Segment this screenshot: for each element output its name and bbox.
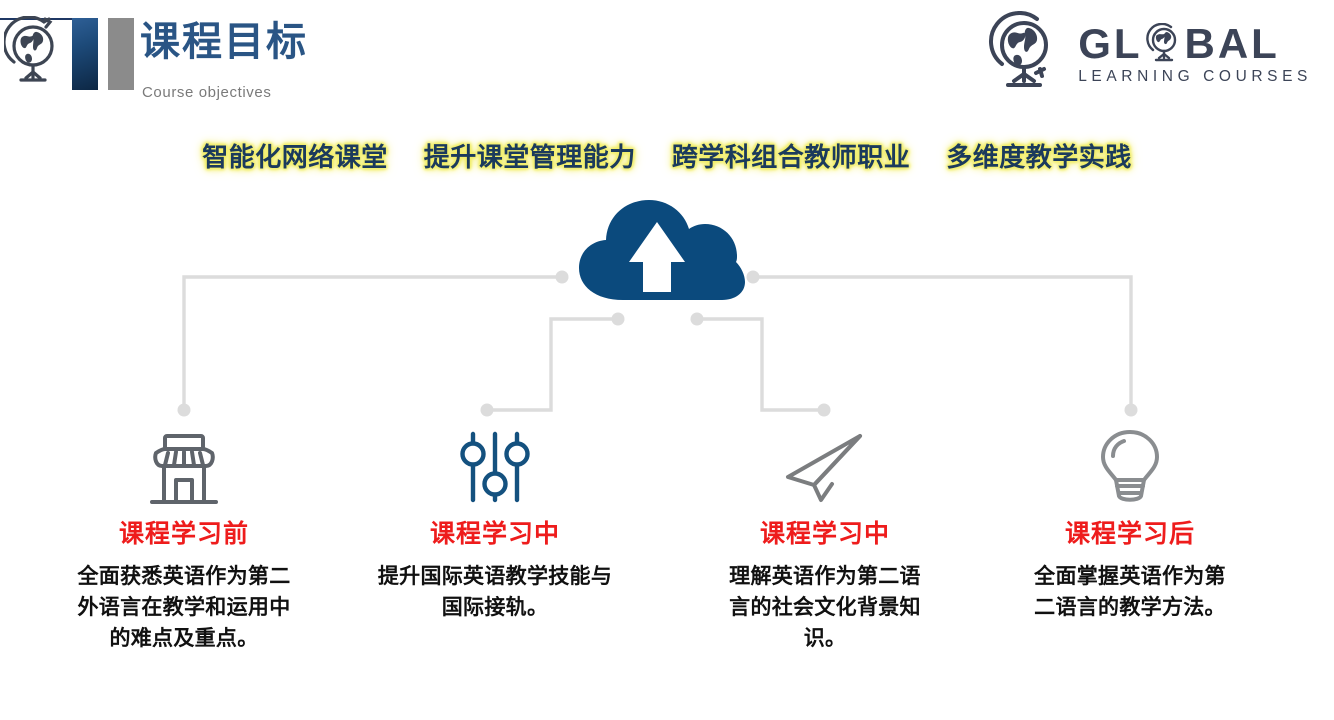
objective-column: 课程学习后 全面掌握英语作为第二语言的教学方法。	[1000, 424, 1260, 623]
brand-globe-icon	[984, 11, 1062, 97]
storefront-icon	[54, 424, 314, 504]
objective-column: 课程学习中 理解英语作为第二语言的社会文化背景知识。	[695, 424, 955, 654]
objective-heading: 课程学习前	[54, 518, 314, 550]
brand-name-part2: BAL	[1185, 22, 1280, 66]
objective-body: 全面获悉英语作为第二外语言在教学和运用中的难点及重点。	[54, 561, 314, 654]
page-title: 课程目标	[140, 18, 308, 66]
slide-canvas: 课程目标 Course objectives	[0, 0, 1334, 720]
objective-body: 全面掌握英语作为第二语言的教学方法。	[1000, 561, 1260, 623]
brand-name: GL	[1078, 22, 1312, 66]
keyword-tag: 智能化网络课堂	[202, 140, 388, 174]
keyword-tag: 提升课堂管理能力	[424, 140, 636, 174]
paper-plane-icon	[695, 424, 955, 504]
header-bar-gray	[108, 18, 134, 90]
brand-globe-o-icon	[1144, 23, 1184, 65]
slide-header: 课程目标 Course objectives	[0, 0, 1334, 110]
keyword-tag-row: 智能化网络课堂 提升课堂管理能力 跨学科组合教师职业 多维度教学实践	[0, 140, 1334, 174]
sliders-icon	[365, 424, 625, 504]
objective-heading: 课程学习中	[365, 518, 625, 550]
brand-text: GL	[1078, 22, 1312, 87]
page-subtitle: Course objectives	[142, 84, 271, 101]
objective-heading: 课程学习中	[695, 518, 955, 550]
brand-logo: GL	[984, 8, 1312, 100]
objective-column: 课程学习前 全面获悉英语作为第二外语言在教学和运用中的难点及重点。	[54, 424, 314, 654]
cloud-upload-icon	[569, 196, 749, 308]
objective-columns: 课程学习前 全面获悉英语作为第二外语言在教学和运用中的难点及重点。 课程学习中	[0, 424, 1334, 720]
objective-body: 理解英语作为第二语言的社会文化背景知识。	[695, 561, 955, 654]
objective-body: 提升国际英语教学技能与国际接轨。	[365, 561, 625, 623]
brand-tagline: LEARNING COURSES	[1078, 67, 1312, 87]
header-bar-blue	[72, 18, 98, 90]
globe-stand-icon	[4, 16, 62, 90]
lightbulb-icon	[1000, 424, 1260, 504]
keyword-tag: 多维度教学实践	[946, 140, 1132, 174]
objective-column: 课程学习中 提升国际英语教学技能与国际接轨。	[365, 424, 625, 623]
keyword-tag: 跨学科组合教师职业	[672, 140, 911, 174]
brand-name-part1: GL	[1078, 22, 1142, 66]
objective-heading: 课程学习后	[1000, 518, 1260, 550]
